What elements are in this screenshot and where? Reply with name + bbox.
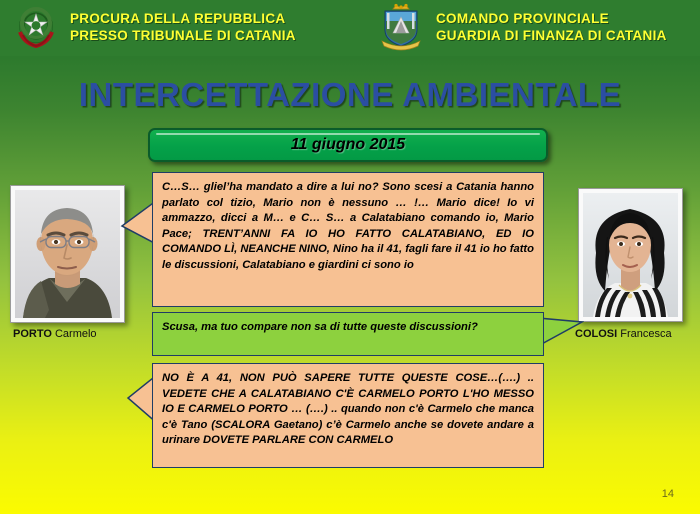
caption-given-right: Francesca [620,328,671,340]
photo-colosi-francesca [578,188,683,322]
callout-box-2: Scusa, ma tuo compare non sa di tutte qu… [152,312,544,356]
avatar-porto-carmelo [15,190,120,318]
header-left-line2: PRESSO TRIBUNALE DI CATANIA [70,27,296,44]
header-right-line1: COMANDO PROVINCIALE [436,10,667,27]
callout-box-1: C…S… gliel’ha mandato a dire a lui no? S… [152,172,544,307]
header-left-text: PROCURA DELLA REPUBBLICA PRESSO TRIBUNAL… [70,10,296,44]
header-left-line1: PROCURA DELLA REPUBBLICA [70,10,296,27]
caption-porto-carmelo: PORTO Carmelo [13,328,97,340]
header-band: PROCURA DELLA REPUBBLICA PRESSO TRIBUNAL… [0,0,700,56]
avatar-colosi-francesca [583,193,678,317]
date-banner-label: 11 giugno 2015 [291,136,405,154]
page-number: 14 [662,488,674,500]
date-banner: 11 giugno 2015 [148,128,548,162]
guardia-di-finanza-crest-icon [376,3,426,53]
banner-highlight [156,133,540,135]
page-title: INTERCETTAZIONE AMBIENTALE [0,76,700,114]
caption-surname-left: PORTO [13,328,52,340]
caption-colosi-francesca: COLOSI Francesca [575,328,672,340]
italian-republic-emblem-icon [14,5,58,51]
callout-box-3: NO È A 41, NON PUÒ SAPERE TUTTE QUESTE C… [152,363,544,468]
caption-given-left: Carmelo [55,328,97,340]
slide: PROCURA DELLA REPUBBLICA PRESSO TRIBUNAL… [0,0,700,514]
photo-porto-carmelo [10,185,125,323]
header-right-line2: GUARDIA DI FINANZA DI CATANIA [436,27,667,44]
header-right-text: COMANDO PROVINCIALE GUARDIA DI FINANZA D… [436,10,667,44]
